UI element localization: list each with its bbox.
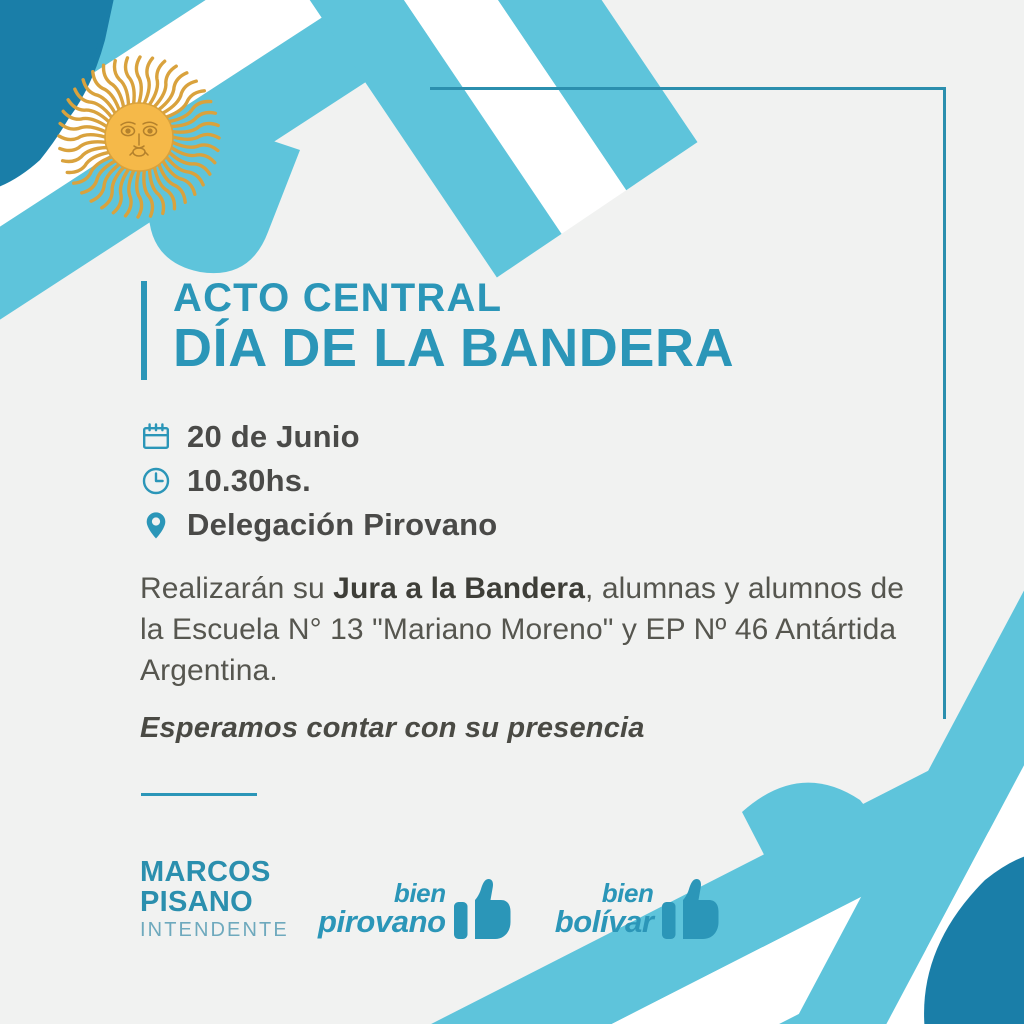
detail-row-time: 10.30hs. <box>139 459 497 503</box>
pisano-line3: INTENDENTE <box>140 920 280 940</box>
event-location-label: Delegación Pirovano <box>187 507 497 543</box>
event-date-label: 20 de Junio <box>187 419 360 455</box>
logo-bar: MARCOS PISANO INTENDENTE bien pirovano <box>140 858 719 940</box>
section-divider <box>141 793 257 796</box>
title-accent-bar <box>141 281 147 380</box>
closing-statement: Esperamos contar con su presencia <box>140 712 645 745</box>
bolivar-word1: bien <box>555 881 654 906</box>
logo-marcos-pisano: MARCOS PISANO INTENDENTE <box>140 858 280 940</box>
page-title-line1: ACTO CENTRAL <box>173 278 734 320</box>
event-description: Realizarán su Jura a la Bandera, alumnas… <box>140 568 930 691</box>
bolivar-word2: bolívar <box>555 907 654 937</box>
pirovano-word2: pirovano <box>318 907 446 937</box>
title-text-group: ACTO CENTRAL DÍA DE LA BANDERA <box>141 278 734 376</box>
page-title-line2: DÍA DE LA BANDERA <box>173 320 734 376</box>
event-time-label: 10.30hs. <box>187 463 311 499</box>
clock-icon <box>139 464 173 498</box>
description-highlight: Jura a la Bandera <box>333 572 585 605</box>
pirovano-word1: bien <box>318 881 446 906</box>
poster-canvas: ACTO CENTRAL DÍA DE LA BANDERA 20 de Jun… <box>0 0 1024 1024</box>
poster-content: ACTO CENTRAL DÍA DE LA BANDERA 20 de Jun… <box>0 0 1024 1024</box>
thumbs-up-icon <box>661 878 719 940</box>
logo-bien-bolivar: bien bolívar <box>555 878 719 940</box>
pisano-line1: MARCOS <box>140 858 280 887</box>
title-block: ACTO CENTRAL DÍA DE LA BANDERA <box>141 278 734 376</box>
detail-row-date: 20 de Junio <box>139 415 497 459</box>
pirovano-words: bien pirovano <box>318 881 446 938</box>
thumbs-up-icon <box>453 878 511 940</box>
event-details-list: 20 de Junio 10.30hs. D <box>139 415 497 547</box>
logo-bien-pirovano: bien pirovano <box>318 878 511 940</box>
location-pin-icon <box>139 508 173 542</box>
pisano-line2: PISANO <box>140 888 280 917</box>
calendar-icon <box>139 420 173 454</box>
detail-row-location: Delegación Pirovano <box>139 503 497 547</box>
bolivar-words: bien bolívar <box>555 881 654 938</box>
description-part1: Realizarán su <box>140 572 333 605</box>
